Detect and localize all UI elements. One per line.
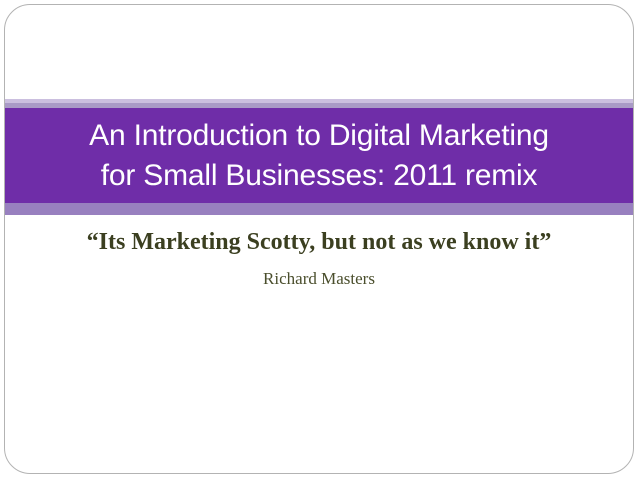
slide-subtitle-quote: “Its Marketing Scotty, but not as we kno… <box>84 227 554 258</box>
title-banner: An Introduction to Digital Marketing for… <box>5 99 633 215</box>
slide-title-line-2: for Small Businesses: 2011 remix <box>101 156 538 196</box>
presentation-slide: An Introduction to Digital Marketing for… <box>4 4 634 474</box>
slide-title: An Introduction to Digital Marketing for… <box>5 108 633 203</box>
banner-accent-strip-bottom <box>5 203 633 215</box>
slide-subtitle-block: “Its Marketing Scotty, but not as we kno… <box>5 227 633 290</box>
slide-subtitle-author: Richard Masters <box>5 268 633 290</box>
slide-title-line-1: An Introduction to Digital Marketing <box>89 116 549 156</box>
